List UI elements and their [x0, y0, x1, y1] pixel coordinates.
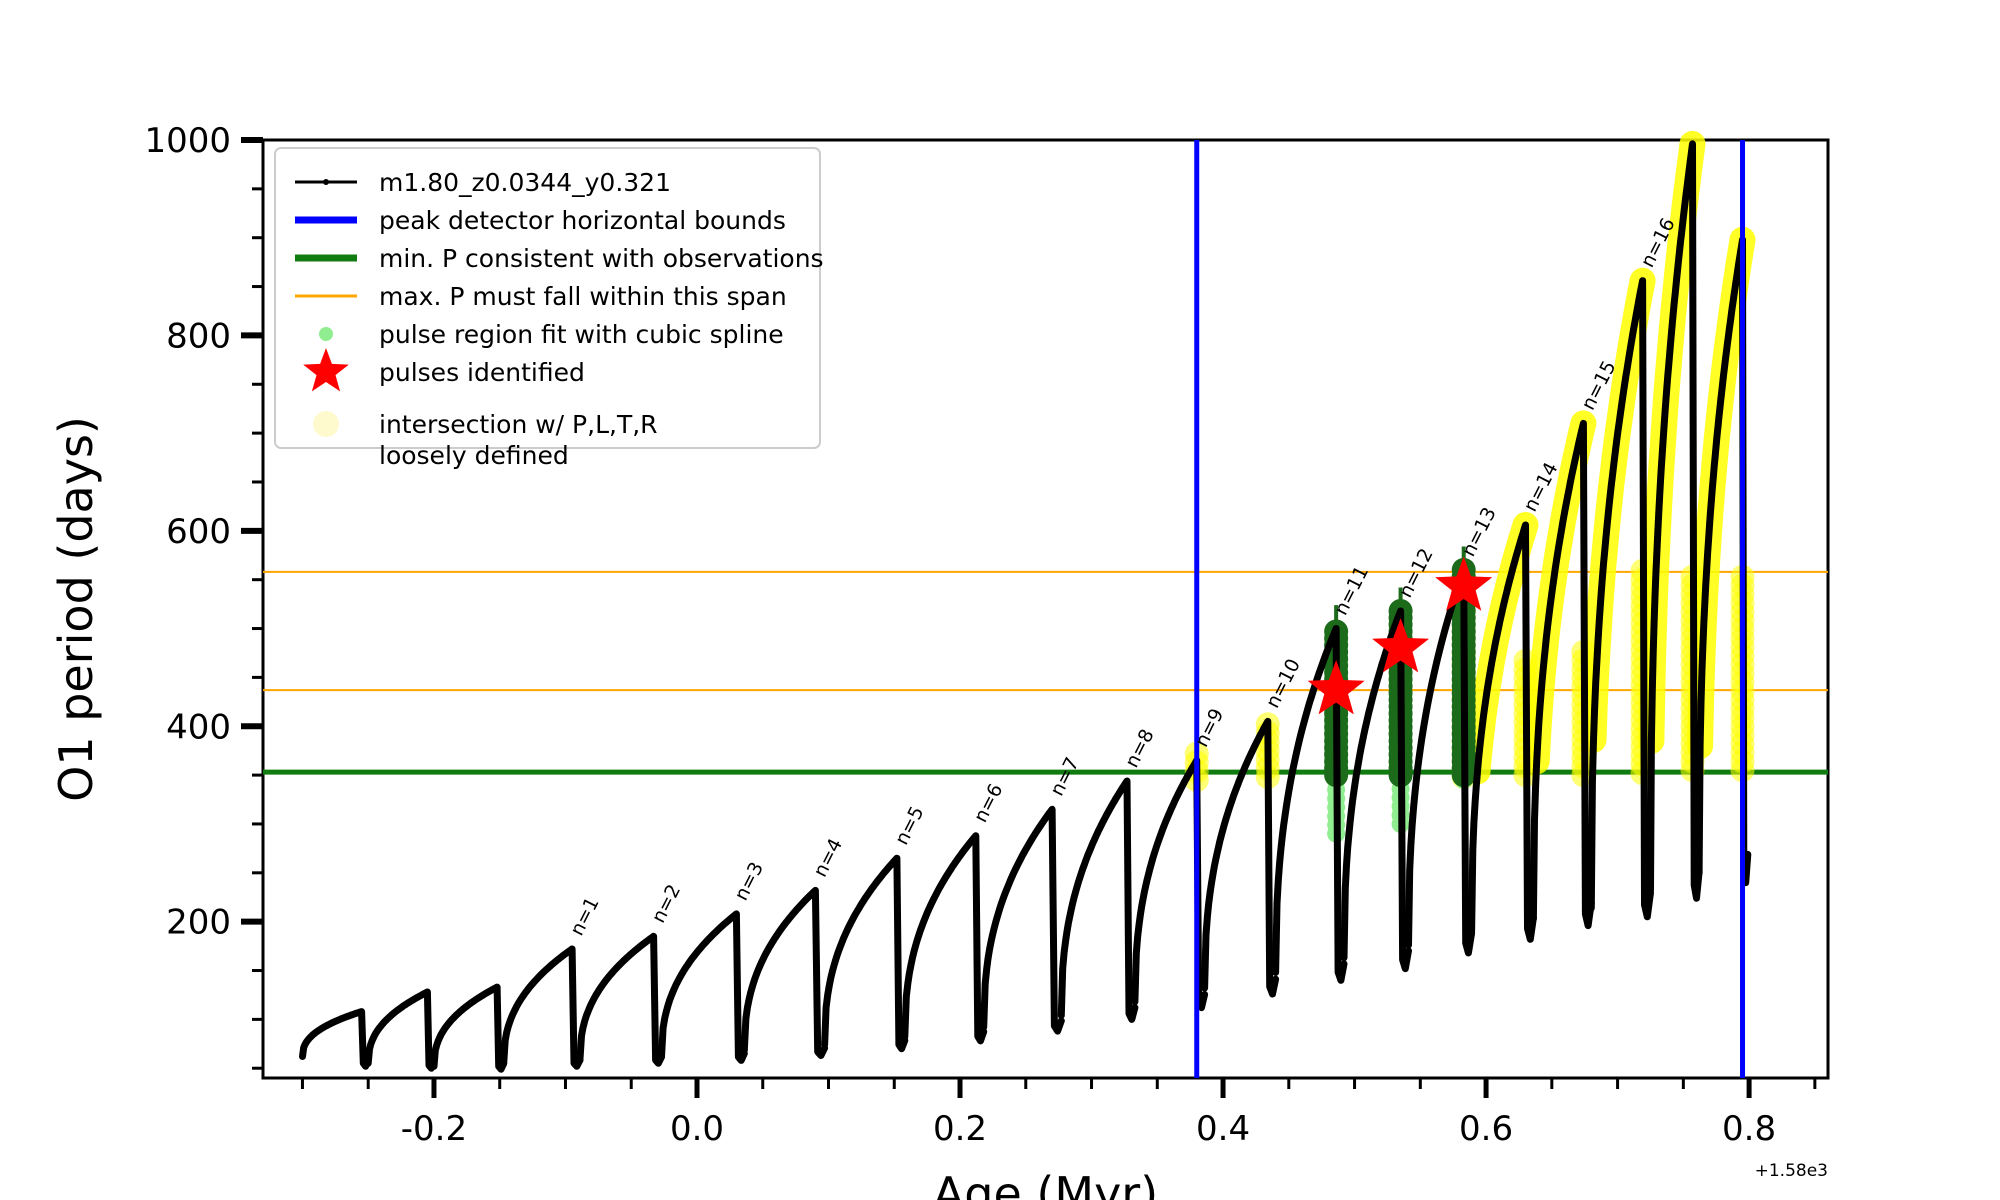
- data-point: [888, 863, 893, 868]
- data-point: [1345, 845, 1350, 850]
- data-point: [727, 917, 732, 922]
- data-point: [1289, 774, 1294, 779]
- data-point: [1206, 901, 1211, 906]
- data-point: [765, 948, 770, 953]
- data-point: [577, 1058, 582, 1063]
- data-point: [1716, 415, 1721, 420]
- data-point: [1446, 616, 1451, 621]
- data-point: [967, 841, 972, 846]
- data-point: [1438, 643, 1443, 648]
- legend-label: peak detector horizontal bounds: [379, 206, 786, 235]
- data-point: [1435, 657, 1440, 662]
- data-point: [930, 899, 935, 904]
- data-point: [1400, 957, 1405, 962]
- data-point: [1202, 986, 1207, 991]
- data-point: [1511, 562, 1516, 567]
- data-point: [1235, 783, 1240, 788]
- data-point: [1642, 902, 1647, 907]
- data-point: [1664, 384, 1669, 389]
- x-tick-label: 0.8: [1722, 1109, 1776, 1149]
- data-point: [1349, 808, 1354, 813]
- data-point: [1093, 834, 1098, 839]
- data-point: [1420, 729, 1425, 734]
- data-point: [541, 969, 546, 974]
- data-point: [1218, 834, 1223, 839]
- data-point: [1382, 654, 1387, 659]
- data-point: [1336, 969, 1341, 974]
- data-point: [1670, 320, 1675, 325]
- data-point: [815, 1049, 820, 1054]
- data-point: [944, 873, 949, 878]
- data-point: [1544, 634, 1549, 639]
- data-point: [1067, 913, 1072, 918]
- data-point: [1084, 855, 1089, 860]
- data-point: [703, 940, 708, 945]
- data-point: [435, 1039, 440, 1044]
- chart-figure: n=1n=2n=3n=4n=5n=6n=7n=8n=9n=10n=11n=12n…: [0, 0, 2000, 1200]
- data-point: [990, 932, 995, 937]
- data-point: [1705, 551, 1710, 556]
- data-point: [630, 950, 635, 955]
- legend-label: min. P consistent with observations: [379, 244, 824, 273]
- data-point: [693, 951, 698, 956]
- data-point: [1393, 621, 1398, 626]
- data-point: [1537, 706, 1542, 711]
- data-point: [774, 933, 779, 938]
- data-point: [1123, 781, 1128, 786]
- data-point: [506, 1024, 511, 1029]
- data-point: [1239, 772, 1244, 777]
- data-point: [601, 980, 606, 985]
- data-point: [1719, 388, 1724, 393]
- data-point: [1602, 549, 1607, 554]
- data-point: [1639, 284, 1644, 289]
- data-point: [564, 951, 569, 956]
- y-tick-label: 1000: [144, 121, 231, 161]
- data-point: [1567, 485, 1572, 490]
- data-point: [1397, 612, 1402, 617]
- legend-label: pulse region fit with cubic spline: [379, 320, 784, 349]
- data-point: [1273, 970, 1278, 975]
- data-point: [925, 909, 930, 914]
- data-point: [1609, 482, 1614, 487]
- data-point: [493, 985, 498, 990]
- data-point: [1214, 851, 1219, 856]
- legend-label: intersection w/ P,L,T,R: [379, 410, 658, 439]
- data-point: [1136, 923, 1141, 928]
- data-point: [1320, 660, 1325, 665]
- data-point: [532, 979, 537, 984]
- data-point: [501, 1061, 506, 1066]
- data-point: [1699, 669, 1704, 674]
- data-point: [1515, 550, 1520, 555]
- data-point: [1547, 607, 1552, 612]
- data-point: [559, 954, 564, 959]
- data-point: [683, 965, 688, 970]
- data-point: [807, 894, 812, 899]
- data-point: [587, 1005, 592, 1010]
- data-point: [645, 938, 650, 943]
- data-point: [448, 1019, 453, 1024]
- data-point: [1126, 1011, 1131, 1016]
- x-tick-label: 0.2: [933, 1109, 987, 1149]
- data-point: [713, 930, 718, 935]
- data-point: [1157, 836, 1162, 841]
- data-point: [1076, 880, 1081, 885]
- x-tick-label: 0.4: [1196, 1109, 1250, 1149]
- data-point: [1508, 575, 1513, 580]
- legend-label: max. P must fall within this span: [379, 282, 787, 311]
- data-point: [1589, 905, 1594, 910]
- data-point: [1622, 381, 1627, 386]
- legend-label: pulses identified: [379, 358, 585, 387]
- data-point: [1114, 794, 1119, 799]
- data-point: [1328, 639, 1333, 644]
- data-point: [1169, 806, 1174, 811]
- data-point: [1332, 629, 1337, 634]
- data-point: [1541, 666, 1546, 671]
- data-point: [1059, 1013, 1064, 1018]
- data-point: [606, 974, 611, 979]
- data-point: [986, 955, 991, 960]
- data-point: [1367, 706, 1372, 711]
- data-point: [1697, 870, 1702, 875]
- data-point: [649, 935, 654, 940]
- data-point: [1316, 671, 1321, 676]
- data-point: [373, 1030, 378, 1035]
- data-point: [855, 908, 860, 913]
- data-point: [1534, 759, 1539, 764]
- data-point: [1497, 620, 1502, 625]
- data-point: [440, 1030, 445, 1035]
- data-point: [850, 916, 855, 921]
- data-point: [1389, 632, 1394, 637]
- x-tick-label: 0.6: [1459, 1109, 1513, 1149]
- data-point: [1708, 510, 1713, 515]
- data-point: [1599, 589, 1604, 594]
- data-point: [1554, 560, 1559, 565]
- data-point: [1504, 589, 1509, 594]
- data-point: [1725, 341, 1730, 346]
- data-point: [1592, 706, 1597, 711]
- data-point: [1728, 320, 1733, 325]
- data-point: [760, 957, 765, 962]
- data-point: [1667, 351, 1672, 356]
- data-point: [1689, 148, 1694, 153]
- data-point: [1301, 722, 1306, 727]
- data-point: [1256, 737, 1261, 742]
- data-point: [1017, 859, 1022, 864]
- data-point: [1039, 821, 1044, 826]
- data-point: [571, 1061, 576, 1066]
- legend-label: loosely defined: [379, 441, 569, 470]
- data-point: [1341, 955, 1346, 960]
- data-point: [742, 1048, 747, 1053]
- data-point: [1260, 729, 1265, 734]
- data-point: [1106, 809, 1111, 814]
- x-axis-offset-label: +1.58e3: [1755, 1161, 1828, 1181]
- data-point: [1431, 673, 1436, 678]
- data-point: [953, 859, 958, 864]
- data-point: [1277, 861, 1282, 866]
- data-point: [537, 974, 542, 979]
- data-point: [756, 967, 761, 972]
- data-point: [369, 1038, 374, 1043]
- data-point: [962, 847, 967, 852]
- data-point: [1580, 425, 1585, 430]
- data-point: [1463, 940, 1468, 945]
- data-point: [568, 947, 573, 952]
- data-point: [722, 921, 727, 926]
- data-point: [811, 889, 816, 894]
- data-point: [788, 914, 793, 919]
- data-point: [994, 915, 999, 920]
- data-point: [948, 866, 953, 871]
- data-point: [999, 901, 1004, 906]
- chart-canvas: n=1n=2n=3n=4n=5n=6n=7n=8n=9n=10n=11n=12n…: [0, 0, 2000, 1200]
- data-point: [958, 853, 963, 858]
- data-point: [1651, 651, 1656, 656]
- data-point: [1619, 404, 1624, 409]
- data-point: [1522, 526, 1527, 531]
- data-point: [1656, 512, 1661, 517]
- data-point: [846, 926, 851, 931]
- data-point: [841, 936, 846, 941]
- data-point: [736, 1054, 741, 1059]
- data-point: [1102, 817, 1107, 822]
- data-point: [836, 948, 841, 953]
- data-point: [1681, 214, 1686, 219]
- legend-label: m1.80_z0.0344_y0.321: [379, 168, 671, 197]
- data-point: [1490, 655, 1495, 660]
- data-point: [1165, 816, 1170, 821]
- data-point: [523, 989, 528, 994]
- data-point: [718, 925, 723, 930]
- data-point: [1173, 798, 1178, 803]
- data-point: [688, 958, 693, 963]
- data-point: [1625, 360, 1630, 365]
- data-point: [1629, 339, 1634, 344]
- data-point: [1730, 299, 1735, 304]
- data-point: [1563, 502, 1568, 507]
- data-point: [1692, 882, 1697, 887]
- data-point: [1243, 763, 1248, 768]
- legend-dot-icon: [319, 327, 333, 341]
- data-point: [1686, 169, 1691, 174]
- data-point: [981, 1025, 986, 1030]
- data-point: [1080, 866, 1085, 871]
- data-point: [1605, 514, 1610, 519]
- data-point: [1227, 806, 1232, 811]
- data-point: [1072, 895, 1077, 900]
- data-point: [1684, 191, 1689, 196]
- data-point: [1044, 815, 1049, 820]
- data-point: [793, 909, 798, 914]
- data-point: [1413, 783, 1418, 788]
- data-point: [1424, 708, 1429, 713]
- data-point: [1733, 279, 1738, 284]
- data-point: [1063, 938, 1068, 943]
- data-point: [381, 1020, 386, 1025]
- data-point: [510, 1012, 515, 1017]
- data-point: [424, 990, 429, 995]
- data-point: [528, 984, 533, 989]
- data-point: [1030, 835, 1035, 840]
- data-point: [659, 1054, 664, 1059]
- data-point: [300, 1054, 305, 1059]
- data-point: [1494, 636, 1499, 641]
- data-point: [625, 954, 630, 959]
- data-point: [1469, 929, 1474, 934]
- data-point: [377, 1025, 382, 1030]
- data-point: [797, 903, 802, 908]
- data-point: [1189, 767, 1194, 772]
- data-point: [732, 913, 737, 918]
- data-point: [1177, 789, 1182, 794]
- data-point: [860, 900, 865, 905]
- data-point: [1251, 745, 1256, 750]
- data-point: [1673, 291, 1678, 296]
- data-point: [1264, 721, 1269, 726]
- data-point: [1612, 454, 1617, 459]
- data-point: [698, 945, 703, 950]
- data-point: [1531, 916, 1536, 921]
- data-point: [678, 973, 683, 978]
- data-point: [1560, 520, 1565, 525]
- y-tick-label: 200: [166, 903, 231, 943]
- data-point: [1678, 239, 1683, 244]
- data-point: [1409, 823, 1414, 828]
- data-point: [1231, 794, 1236, 799]
- data-point: [1550, 582, 1555, 587]
- data-point: [783, 920, 788, 925]
- data-point: [896, 1042, 901, 1047]
- data-point: [464, 1003, 469, 1008]
- data-point: [635, 946, 640, 951]
- y-tick-label: 600: [166, 512, 231, 552]
- data-point: [664, 1009, 669, 1014]
- data-point: [1026, 843, 1031, 848]
- data-point: [1442, 629, 1447, 634]
- data-point: [514, 1003, 519, 1008]
- data-point: [935, 890, 940, 895]
- data-point: [1360, 739, 1365, 744]
- data-point: [864, 893, 869, 898]
- data-point: [1583, 911, 1588, 916]
- data-point: [1378, 665, 1383, 670]
- legend-box[interactable]: m1.80_z0.0344_y0.321peak detector horizo…: [275, 148, 824, 470]
- data-point: [902, 1034, 907, 1039]
- data-point: [1285, 797, 1290, 802]
- data-point: [1132, 999, 1137, 1004]
- data-point: [592, 995, 597, 1000]
- data-point: [1375, 678, 1380, 683]
- data-point: [1144, 878, 1149, 883]
- y-axis-title: O1 period (days): [49, 416, 103, 802]
- data-point: [1140, 897, 1145, 902]
- data-point: [1352, 780, 1357, 785]
- data-point: [1152, 848, 1157, 853]
- data-point: [1161, 826, 1166, 831]
- data-point: [640, 942, 645, 947]
- data-point: [431, 1064, 436, 1069]
- data-point: [1021, 850, 1026, 855]
- data-point: [546, 965, 551, 970]
- data-point: [921, 920, 926, 925]
- data-point: [1662, 422, 1667, 427]
- data-point: [1181, 781, 1186, 786]
- legend-item[interactable]: pulse region fit with cubic spline: [319, 320, 784, 349]
- data-point: [827, 983, 832, 988]
- data-point: [879, 874, 884, 879]
- legend-point-icon: [323, 179, 329, 185]
- data-point: [385, 1016, 390, 1021]
- data-point: [452, 1014, 457, 1019]
- data-point: [1293, 755, 1298, 760]
- data-point: [1659, 463, 1664, 468]
- data-point: [746, 997, 751, 1002]
- data-point: [1636, 302, 1641, 307]
- data-point: [802, 899, 807, 904]
- data-point: [869, 886, 874, 891]
- x-tick-label: 0.0: [670, 1109, 724, 1149]
- data-point: [1573, 454, 1578, 459]
- legend-soft-dot-icon: [313, 411, 339, 437]
- data-point: [674, 982, 679, 987]
- data-point: [1223, 819, 1228, 824]
- data-point: [708, 935, 713, 940]
- data-point: [1711, 475, 1716, 480]
- data-point: [1003, 888, 1008, 893]
- data-point: [1473, 800, 1478, 805]
- y-tick-label: 400: [166, 707, 231, 747]
- data-point: [1525, 926, 1530, 931]
- data-point: [1008, 878, 1013, 883]
- data-point: [597, 987, 602, 992]
- data-point: [1110, 801, 1115, 806]
- data-point: [770, 940, 775, 945]
- data-point: [1483, 698, 1488, 703]
- data-point: [1653, 570, 1658, 575]
- data-point: [460, 1007, 465, 1012]
- data-point: [1371, 691, 1376, 696]
- data-point: [1576, 439, 1581, 444]
- data-point: [358, 1009, 363, 1014]
- data-point: [653, 1058, 658, 1063]
- data-point: [1097, 825, 1102, 830]
- data-point: [582, 1018, 587, 1023]
- data-point: [779, 926, 784, 931]
- data-point: [555, 958, 560, 963]
- data-point: [1267, 984, 1272, 989]
- data-point: [1035, 828, 1040, 833]
- data-point: [550, 961, 555, 966]
- data-point: [1048, 809, 1053, 814]
- data-point: [444, 1024, 449, 1029]
- data-point: [1309, 695, 1314, 700]
- data-point: [1702, 601, 1707, 606]
- data-point: [308, 1035, 313, 1040]
- data-point: [1675, 264, 1680, 269]
- data-point: [621, 959, 626, 964]
- data-point: [1648, 888, 1653, 893]
- data-point: [751, 980, 756, 985]
- data-point: [1714, 443, 1719, 448]
- data-point: [1210, 872, 1215, 877]
- data-point: [456, 1010, 461, 1015]
- data-point: [972, 835, 977, 840]
- data-point: [883, 868, 888, 873]
